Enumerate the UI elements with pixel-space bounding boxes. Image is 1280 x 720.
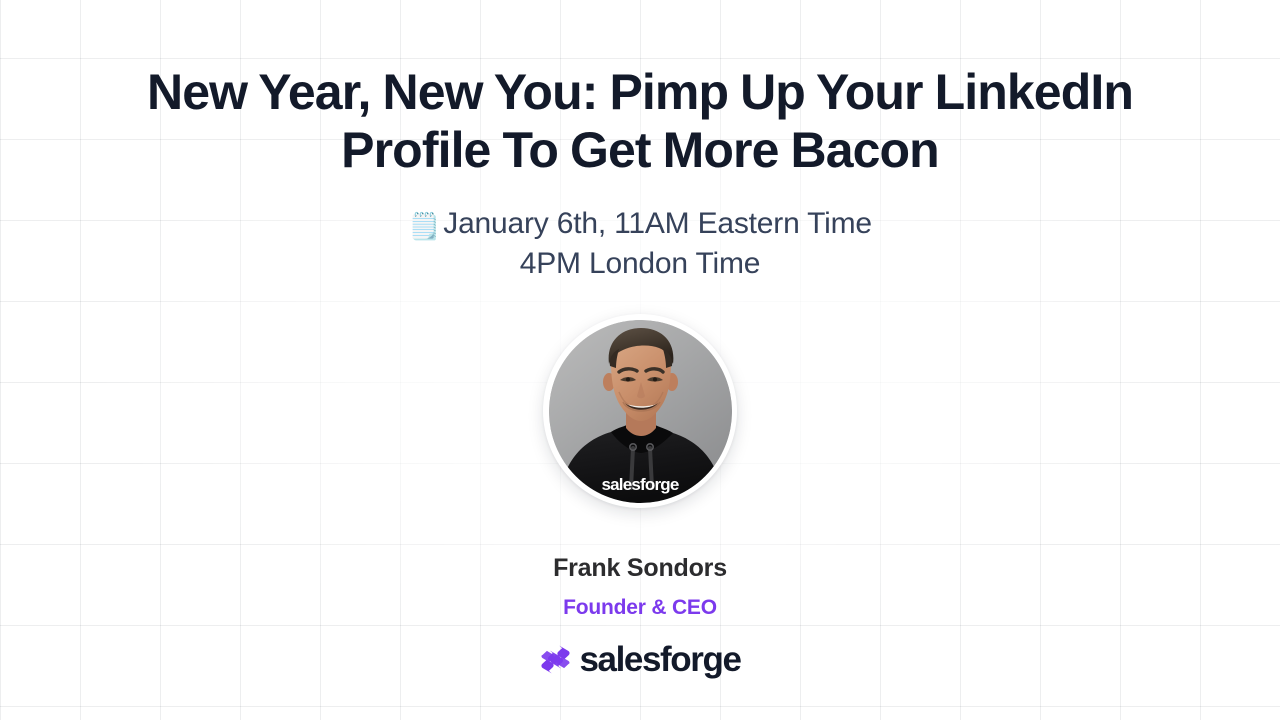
avatar-ring: salesforge: [543, 314, 737, 508]
salesforge-wordmark: salesforge: [579, 642, 740, 677]
spiral-notepad-icon: 🗒️: [408, 211, 440, 241]
avatar: salesforge: [549, 320, 732, 503]
schedule-line-eastern: January 6th, 11AM Eastern Time: [443, 207, 872, 240]
page-title: New Year, New You: Pimp Up Your LinkedIn…: [75, 63, 1205, 179]
svg-text:salesforge: salesforge: [601, 475, 678, 494]
webinar-slide: New Year, New You: Pimp Up Your LinkedIn…: [0, 0, 1280, 720]
speaker-name: Frank Sondors: [553, 553, 727, 583]
speaker-photo-wrapper: salesforge: [540, 311, 740, 511]
slide-content: New Year, New You: Pimp Up Your LinkedIn…: [0, 0, 1280, 720]
speaker-role: Founder & CEO: [563, 595, 717, 620]
schedule-line-london: 4PM London Time: [520, 247, 760, 280]
salesforge-logo-mark-icon: [539, 643, 572, 676]
salesforge-logo: salesforge: [539, 642, 740, 677]
webinar-schedule: 🗒️January 6th, 11AM Eastern Time 4PM Lon…: [140, 205, 1140, 283]
